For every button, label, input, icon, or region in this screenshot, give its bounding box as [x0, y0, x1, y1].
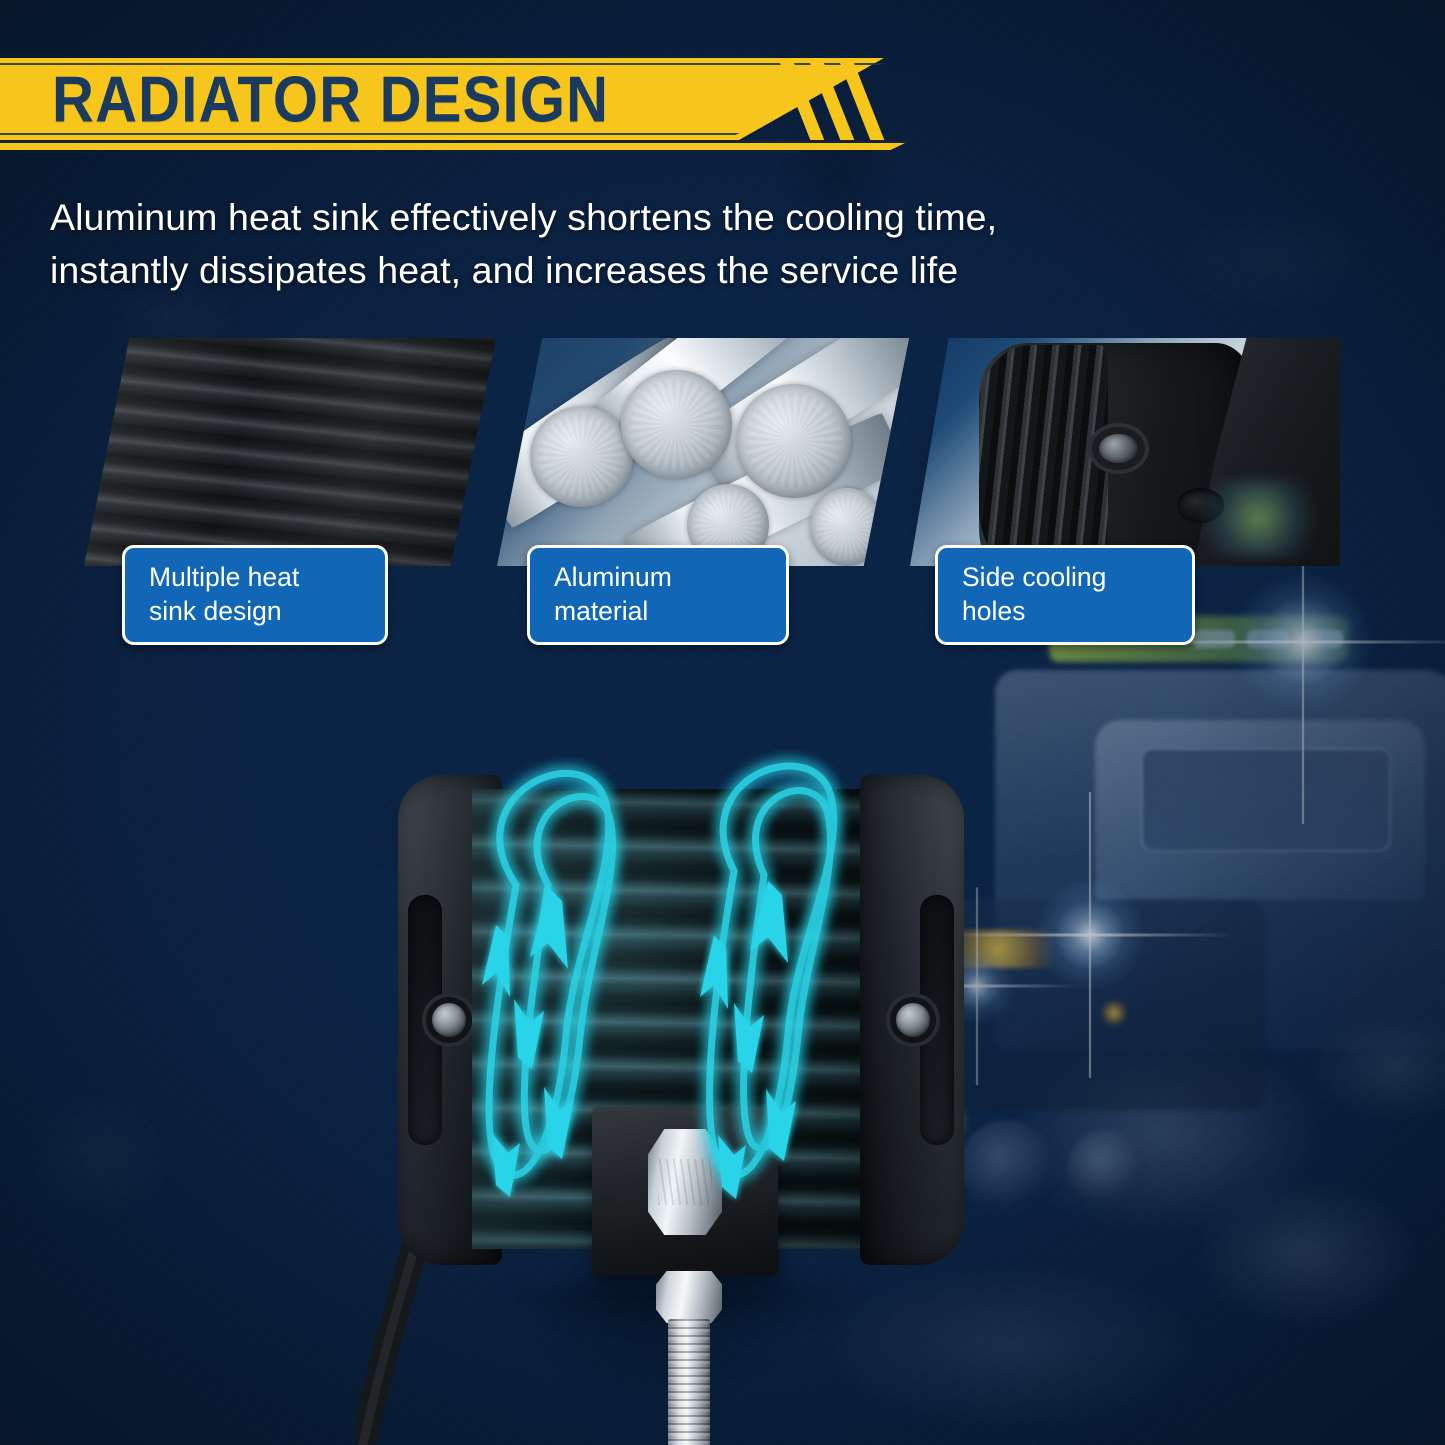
aluminum-rod-end	[736, 384, 851, 498]
label-line-1: Aluminum	[554, 561, 786, 595]
label-line-1: Side cooling	[962, 561, 1192, 595]
aluminum-rod-end	[621, 370, 732, 479]
product-led-light-pod	[398, 775, 964, 1285]
header-banner: RADIATOR DESIGN	[0, 58, 930, 154]
subtitle-text: Aluminum heat sink effectively shortens …	[50, 192, 1230, 297]
housing-pivot-bolt	[1099, 434, 1138, 464]
page-title: RADIATOR DESIGN	[52, 53, 609, 145]
hex-bolt	[648, 1129, 722, 1235]
threaded-stud	[668, 1319, 710, 1445]
subtitle-line-2: instantly dissipates heat, and increases…	[50, 245, 1230, 297]
feature-card-side-cooling-holes	[910, 338, 1340, 566]
housing-cooling-fins	[979, 345, 1108, 566]
label-line-2: material	[554, 595, 786, 629]
mounting-nut	[656, 1271, 722, 1323]
feature-image-heat-sink	[84, 338, 496, 566]
heat-sink-sheen	[84, 338, 496, 566]
label-line-1: Multiple heat	[149, 561, 385, 595]
aluminum-rod-end	[810, 488, 884, 566]
feature-label-multiple-heat-sink-design: Multiple heat sink design	[122, 545, 388, 645]
background-light-glow	[1185, 479, 1331, 557]
label-line-2: sink design	[149, 595, 385, 629]
feature-card-aluminum-material	[497, 338, 909, 566]
feature-image-aluminum-billets	[497, 338, 909, 566]
feature-card-multiple-heat-sink-design	[84, 338, 496, 566]
aluminum-rod-end	[530, 406, 633, 506]
infographic-stage: RADIATOR DESIGN Aluminum heat sink effec…	[0, 0, 1445, 1445]
subtitle-line-1: Aluminum heat sink effectively shortens …	[50, 192, 1230, 244]
feature-label-aluminum-material: Aluminum material	[527, 545, 789, 645]
bezel-pivot-bolt	[432, 1003, 466, 1037]
feature-label-side-cooling-holes: Side cooling holes	[935, 545, 1195, 645]
right-mounting-bezel	[860, 775, 964, 1265]
bezel-pivot-bolt	[896, 1003, 930, 1037]
feature-image-side-cooling	[910, 338, 1340, 566]
label-line-2: holes	[962, 595, 1192, 629]
